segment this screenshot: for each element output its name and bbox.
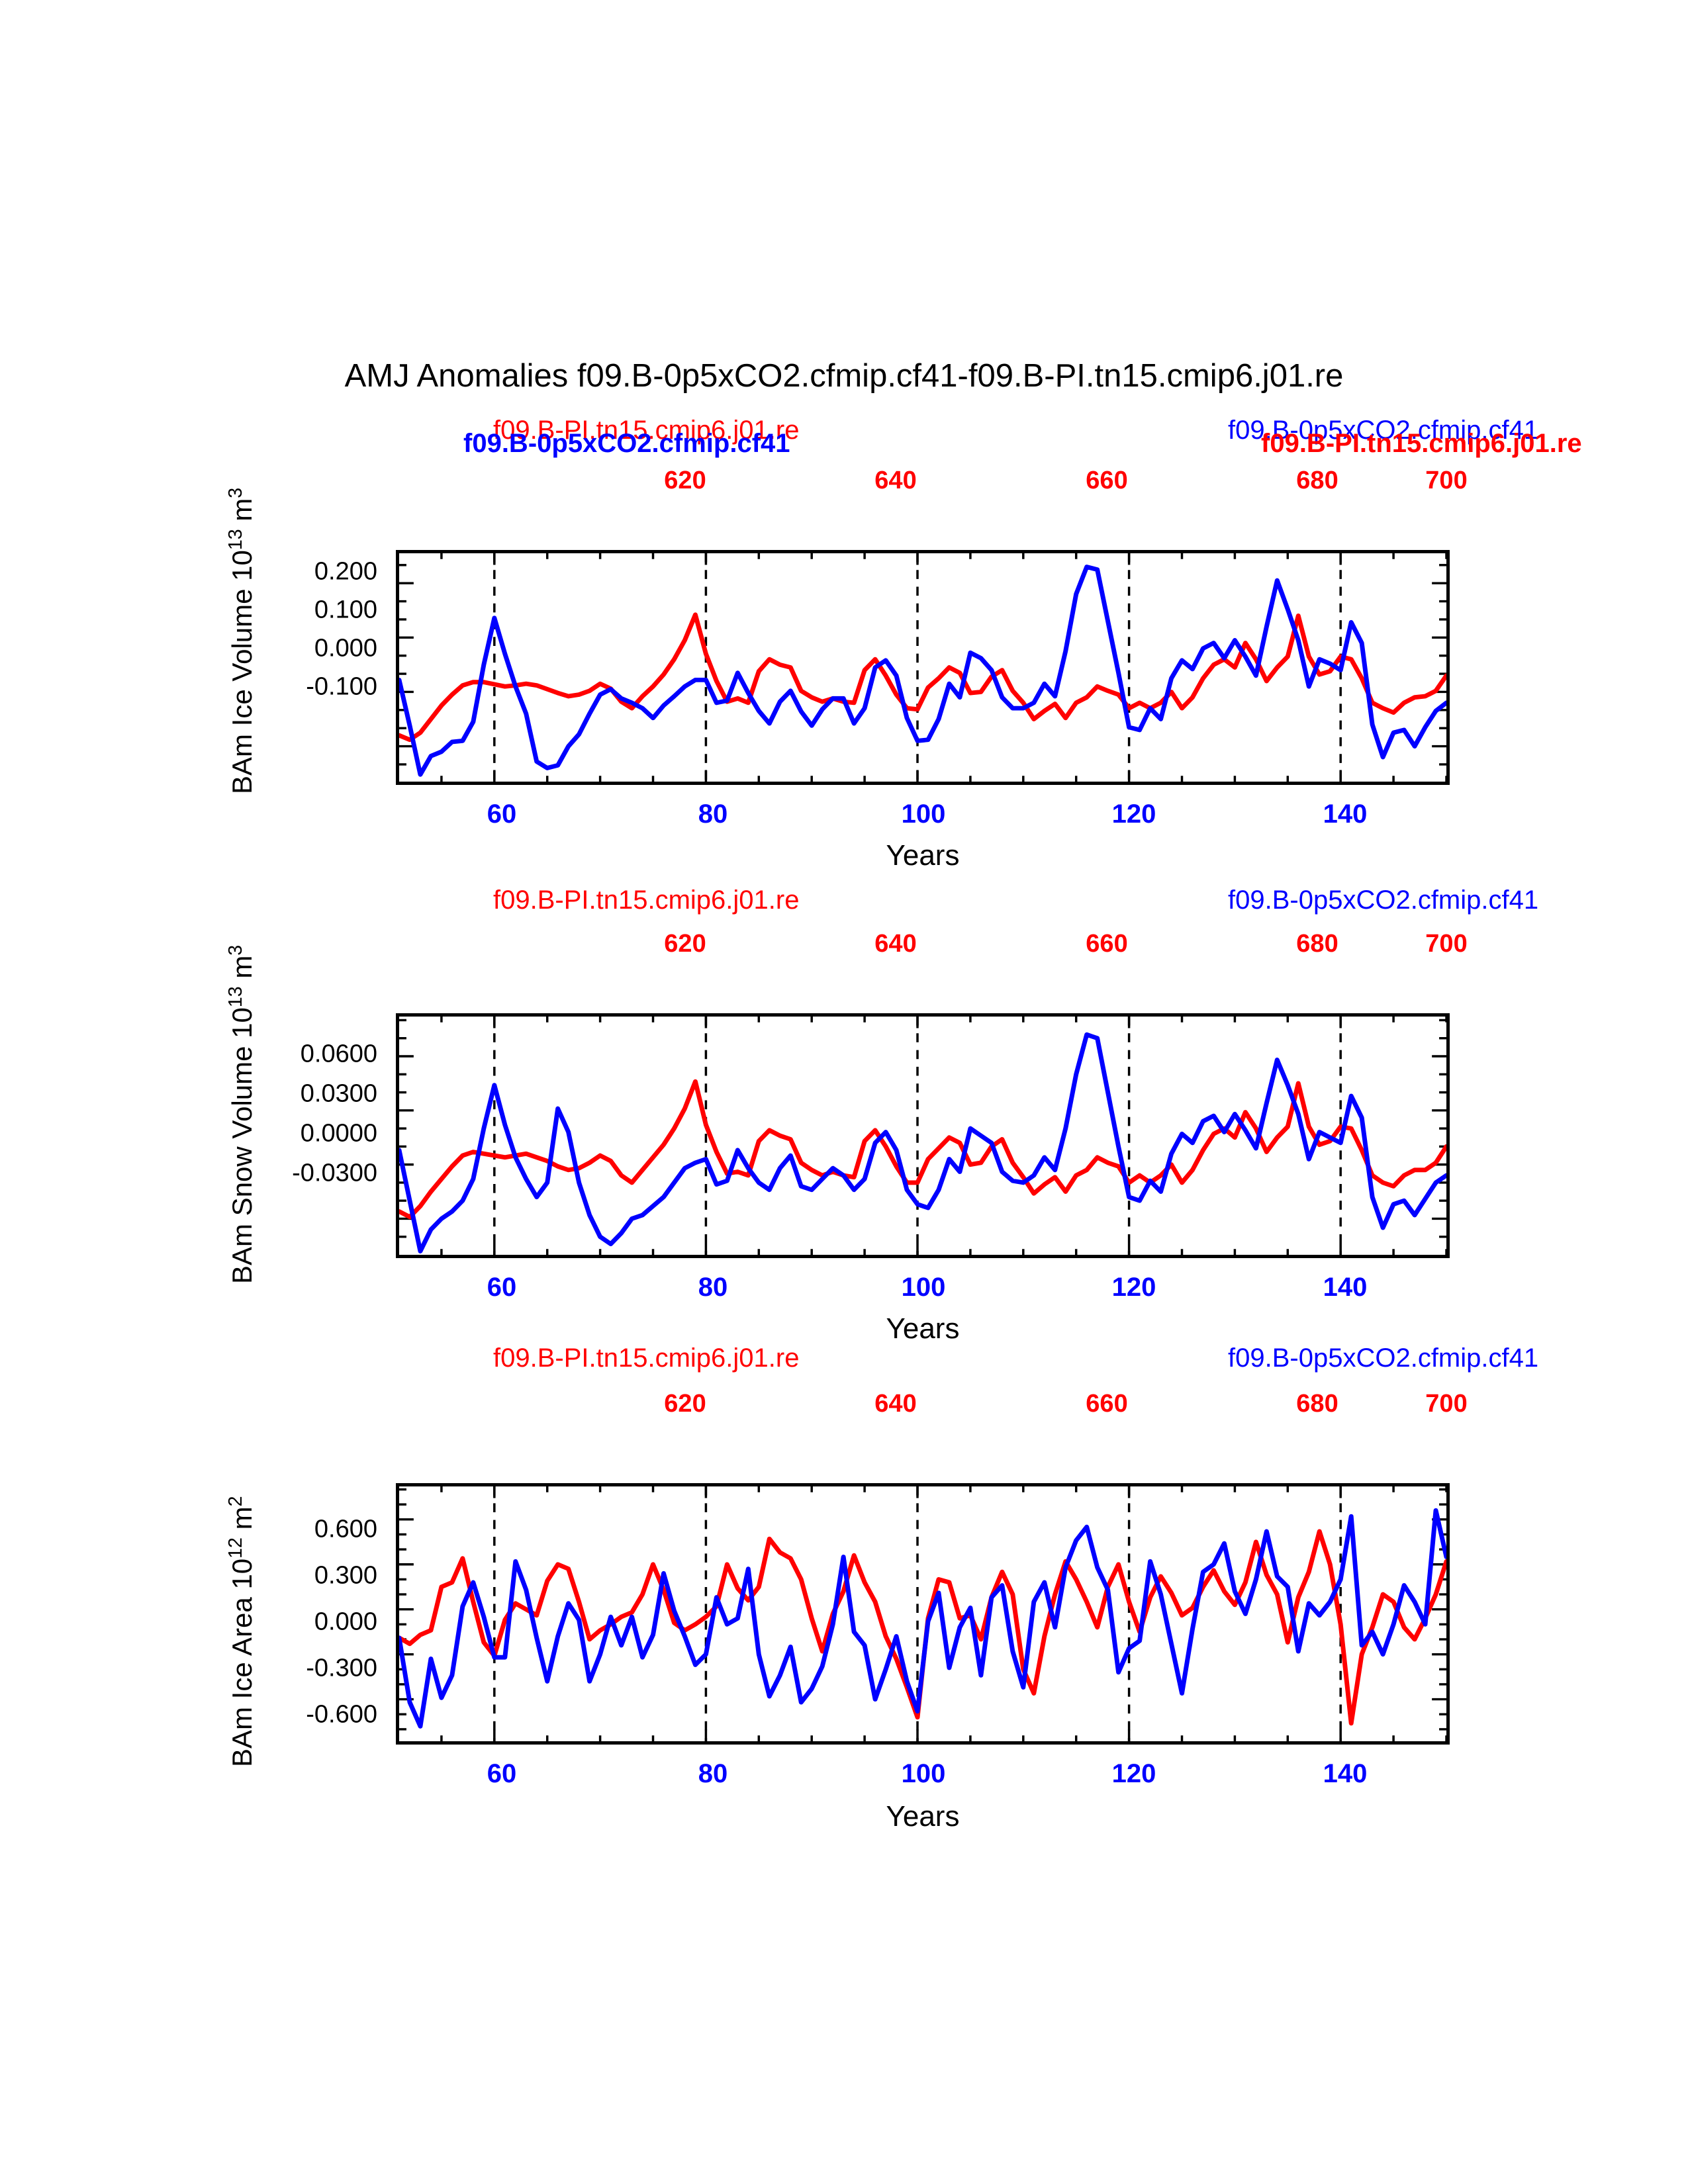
top-tick-620-panel1: 620	[664, 930, 706, 958]
y-axis-title-exp-panel0: 13	[225, 529, 246, 550]
y-axis-title-unit-panel0: m	[226, 498, 258, 529]
y-axis-title-unit-panel2: m	[226, 1506, 258, 1537]
x-axis-title-panel2: Years	[396, 1800, 1450, 1833]
bottom-tick-140-panel1: 140	[1323, 1273, 1368, 1302]
line-chart-ice-area	[399, 1486, 1446, 1741]
top-tick-640-panel2: 640	[874, 1390, 916, 1418]
bottom-tick-120-panel1: 120	[1112, 1273, 1156, 1302]
top-tick-660-panel0: 660	[1086, 467, 1127, 495]
y-axis-title-unit-exp-panel0: 3	[225, 488, 246, 498]
plot-area-snow-volume[interactable]	[396, 1013, 1450, 1258]
top-tick-700-panel2: 700	[1425, 1390, 1467, 1418]
y-axis-title-unit-panel1: m	[226, 956, 258, 987]
bottom-tick-120-panel0: 120	[1112, 799, 1156, 829]
bottom-tick-100-panel2: 100	[902, 1759, 946, 1789]
top-tick-680-panel1: 680	[1296, 930, 1338, 958]
y-axis-title-text-panel2: BAm Ice Area 10	[226, 1559, 258, 1767]
series-line	[399, 1034, 1446, 1251]
y-axis-title-panel2: BAm Ice Area 1012 m2	[225, 1496, 258, 1767]
plot-area-ice-area[interactable]	[396, 1483, 1450, 1745]
series-line	[399, 615, 1446, 740]
series-line	[399, 1510, 1446, 1726]
bottom-tick-140-panel0: 140	[1323, 799, 1368, 829]
line-chart-ice-volume	[399, 553, 1446, 782]
line-chart-snow-volume	[399, 1017, 1446, 1255]
y-axis-title-panel1: BAm Snow Volume 1013 m3	[225, 945, 258, 1284]
series-label-blue-panel2: f09.B-0p5xCO2.cfmip.cf41	[1228, 1343, 1538, 1373]
bottom-tick-80-panel1: 80	[698, 1273, 728, 1302]
y-axis-title-text-panel1: BAm Snow Volume 10	[226, 1007, 258, 1284]
plot-area-ice-volume[interactable]	[396, 550, 1450, 785]
y-axis-title-panel0: BAm Ice Volume 1013 m3	[225, 488, 258, 794]
bottom-tick-60-panel2: 60	[487, 1759, 517, 1789]
top-tick-700-panel0: 700	[1425, 467, 1467, 495]
series-label-red-right-panel0: f09.B-PI.tn15.cmip6.j01.re	[1261, 429, 1582, 459]
page-title: AMJ Anomalies f09.B-0p5xCO2.cfmip.cf41-f…	[0, 357, 1688, 394]
top-tick-620-panel0: 620	[664, 467, 706, 495]
panel-ice-area: f09.B-PI.tn15.cmip6.j01.re f09.B-0p5xCO2…	[0, 1317, 1688, 1780]
top-tick-640-panel1: 640	[874, 930, 916, 958]
y-axis-title-text-panel0: BAm Ice Volume 10	[226, 550, 258, 794]
top-tick-680-panel0: 680	[1296, 467, 1338, 495]
bottom-tick-120-panel2: 120	[1112, 1759, 1156, 1789]
series-label-blue-panel0: f09.B-0p5xCO2.cfmip.cf41	[463, 429, 790, 459]
top-tick-660-panel2: 660	[1086, 1390, 1127, 1418]
top-tick-640-panel0: 640	[874, 467, 916, 495]
bottom-tick-140-panel2: 140	[1323, 1759, 1368, 1789]
top-tick-700-panel1: 700	[1425, 930, 1467, 958]
series-line	[399, 1531, 1446, 1723]
series-line	[399, 1081, 1446, 1217]
figure-page: AMJ Anomalies f09.B-0p5xCO2.cfmip.cf41-f…	[0, 0, 1688, 2184]
bottom-tick-60-panel0: 60	[487, 799, 517, 829]
bottom-tick-100-panel1: 100	[902, 1273, 946, 1302]
y-axis-title-unit-exp-panel2: 2	[225, 1496, 246, 1507]
bottom-tick-80-panel0: 80	[698, 799, 728, 829]
series-line	[399, 567, 1446, 775]
top-tick-660-panel1: 660	[1086, 930, 1127, 958]
bottom-tick-100-panel0: 100	[902, 799, 946, 829]
y-axis-title-unit-exp-panel1: 3	[225, 945, 246, 956]
series-label-red-panel2: f09.B-PI.tn15.cmip6.j01.re	[493, 1343, 799, 1373]
panel-snow-volume: f09.B-PI.tn15.cmip6.j01.re f09.B-0p5xCO2…	[0, 860, 1688, 1284]
bottom-tick-60-panel1: 60	[487, 1273, 517, 1302]
bottom-tick-80-panel2: 80	[698, 1759, 728, 1789]
y-axis-title-exp-panel1: 13	[225, 986, 246, 1007]
top-tick-620-panel2: 620	[664, 1390, 706, 1418]
series-label-red-panel1: f09.B-PI.tn15.cmip6.j01.re	[493, 886, 799, 915]
top-tick-680-panel2: 680	[1296, 1390, 1338, 1418]
y-axis-title-exp-panel2: 12	[225, 1537, 246, 1559]
panel-ice-volume: f09.B-PI.tn15.cmip6.j01.re f09.B-0p5xCO2…	[0, 397, 1688, 821]
series-label-blue-panel1: f09.B-0p5xCO2.cfmip.cf41	[1228, 886, 1538, 915]
